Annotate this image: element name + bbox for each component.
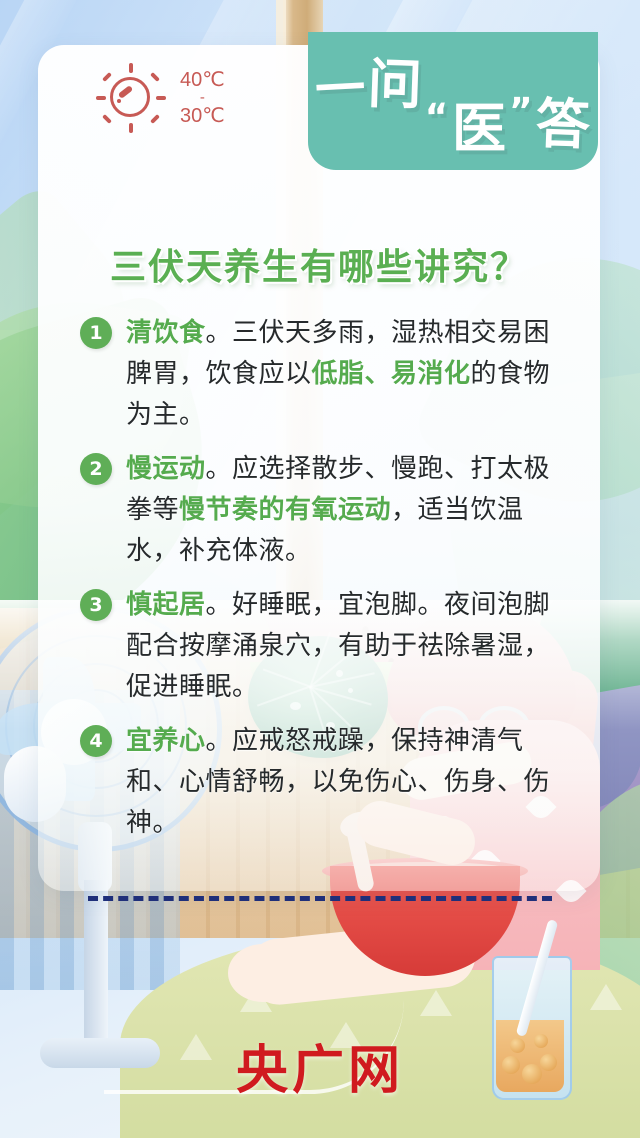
series-badge-text: 一 问 “ 医 ” 答 xyxy=(308,32,598,170)
list-item-text: 慎起居。好睡眠，宜泡脚。夜间泡脚配合按摩涌泉穴，有助于祛除暑湿，促进睡眠。 xyxy=(126,585,572,708)
series-badge: 一 问 “ 医 ” 答 xyxy=(308,32,598,170)
list-item: 3慎起居。好睡眠，宜泡脚。夜间泡脚配合按摩涌泉穴，有助于祛除暑湿，促进睡眠。 xyxy=(80,585,572,708)
page-title: 三伏天养生有哪些讲究？ xyxy=(38,238,600,290)
list-item-text: 慢运动。应选择散步、慢跑、打太极拳等慢节奏的有氧运动，适当饮温水，补充体液。 xyxy=(126,449,572,572)
badge-char: 医 xyxy=(452,84,507,163)
badge-char: 一 xyxy=(313,48,368,123)
badge-char: “ xyxy=(425,96,451,138)
sun-dot xyxy=(117,99,121,103)
temperature-range: 40℃ - 30℃ xyxy=(180,69,225,127)
brand-logo: 央广网 xyxy=(0,1028,640,1103)
badge-char: 问 xyxy=(367,39,425,120)
list-item-number: 1 xyxy=(80,317,112,349)
list-item-text: 宜养心。应戒怒戒躁，保持神清气和、心情舒畅，以免伤心、伤身、伤神。 xyxy=(126,721,572,844)
badge-char: ” xyxy=(509,91,534,132)
list-item-number: 2 xyxy=(80,453,112,485)
sun-icon xyxy=(96,63,166,133)
list-item: 4宜养心。应戒怒戒躁，保持神清气和、心情舒畅，以免伤心、伤身、伤神。 xyxy=(80,721,572,844)
list-item-text: 清饮食。三伏天多雨，湿热相交易困脾胃，饮食应以低脂、易消化的食物为主。 xyxy=(126,313,572,436)
highlighted-term: 宜养心 xyxy=(126,726,206,756)
highlighted-term: 慎起居 xyxy=(126,590,206,620)
poster: 40℃ - 30℃ 一 问 “ 医 ” 答 三伏天养生有哪些讲究？ 1清饮食。三… xyxy=(0,0,640,1138)
content-card: 40℃ - 30℃ 一 问 “ 医 ” 答 三伏天养生有哪些讲究？ 1清饮食。三… xyxy=(38,45,600,891)
dashed-divider xyxy=(88,896,552,901)
tips-list: 1清饮食。三伏天多雨，湿热相交易困脾胃，饮食应以低脂、易消化的食物为主。2慢运动… xyxy=(80,313,572,857)
highlighted-term: 慢节奏的有氧运动 xyxy=(179,495,391,525)
list-item: 1清饮食。三伏天多雨，湿热相交易困脾胃，饮食应以低脂、易消化的食物为主。 xyxy=(80,313,572,436)
highlighted-term: 清饮食 xyxy=(126,318,206,348)
list-item-number: 3 xyxy=(80,589,112,621)
highlighted-term: 低脂、易消化 xyxy=(312,359,471,389)
list-item: 2慢运动。应选择散步、慢跑、打太极拳等慢节奏的有氧运动，适当饮温水，补充体液。 xyxy=(80,449,572,572)
temp-low: 30℃ xyxy=(180,105,225,127)
badge-char: 答 xyxy=(534,79,592,160)
temp-high: 40℃ xyxy=(180,69,225,91)
weather-widget: 40℃ - 30℃ xyxy=(96,63,225,133)
highlighted-term: 慢运动 xyxy=(126,454,206,484)
list-item-number: 4 xyxy=(80,725,112,757)
temp-separator: - xyxy=(200,91,205,105)
sun-core xyxy=(110,77,150,117)
